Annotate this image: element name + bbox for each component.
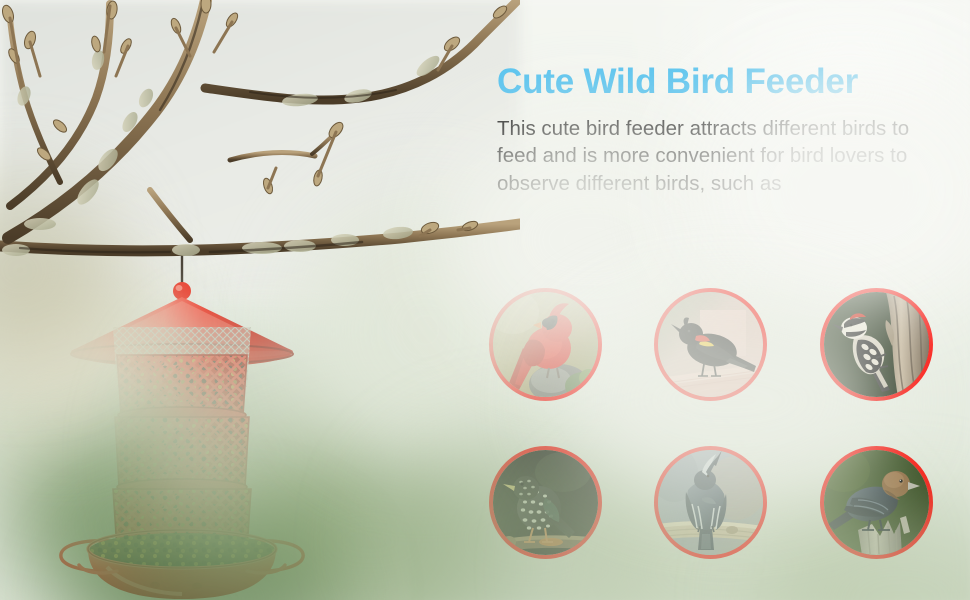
product-banner: Cute Wild Bird Feeder This cute bird fee… (0, 0, 970, 600)
tree-branch-graphic (0, 0, 520, 340)
